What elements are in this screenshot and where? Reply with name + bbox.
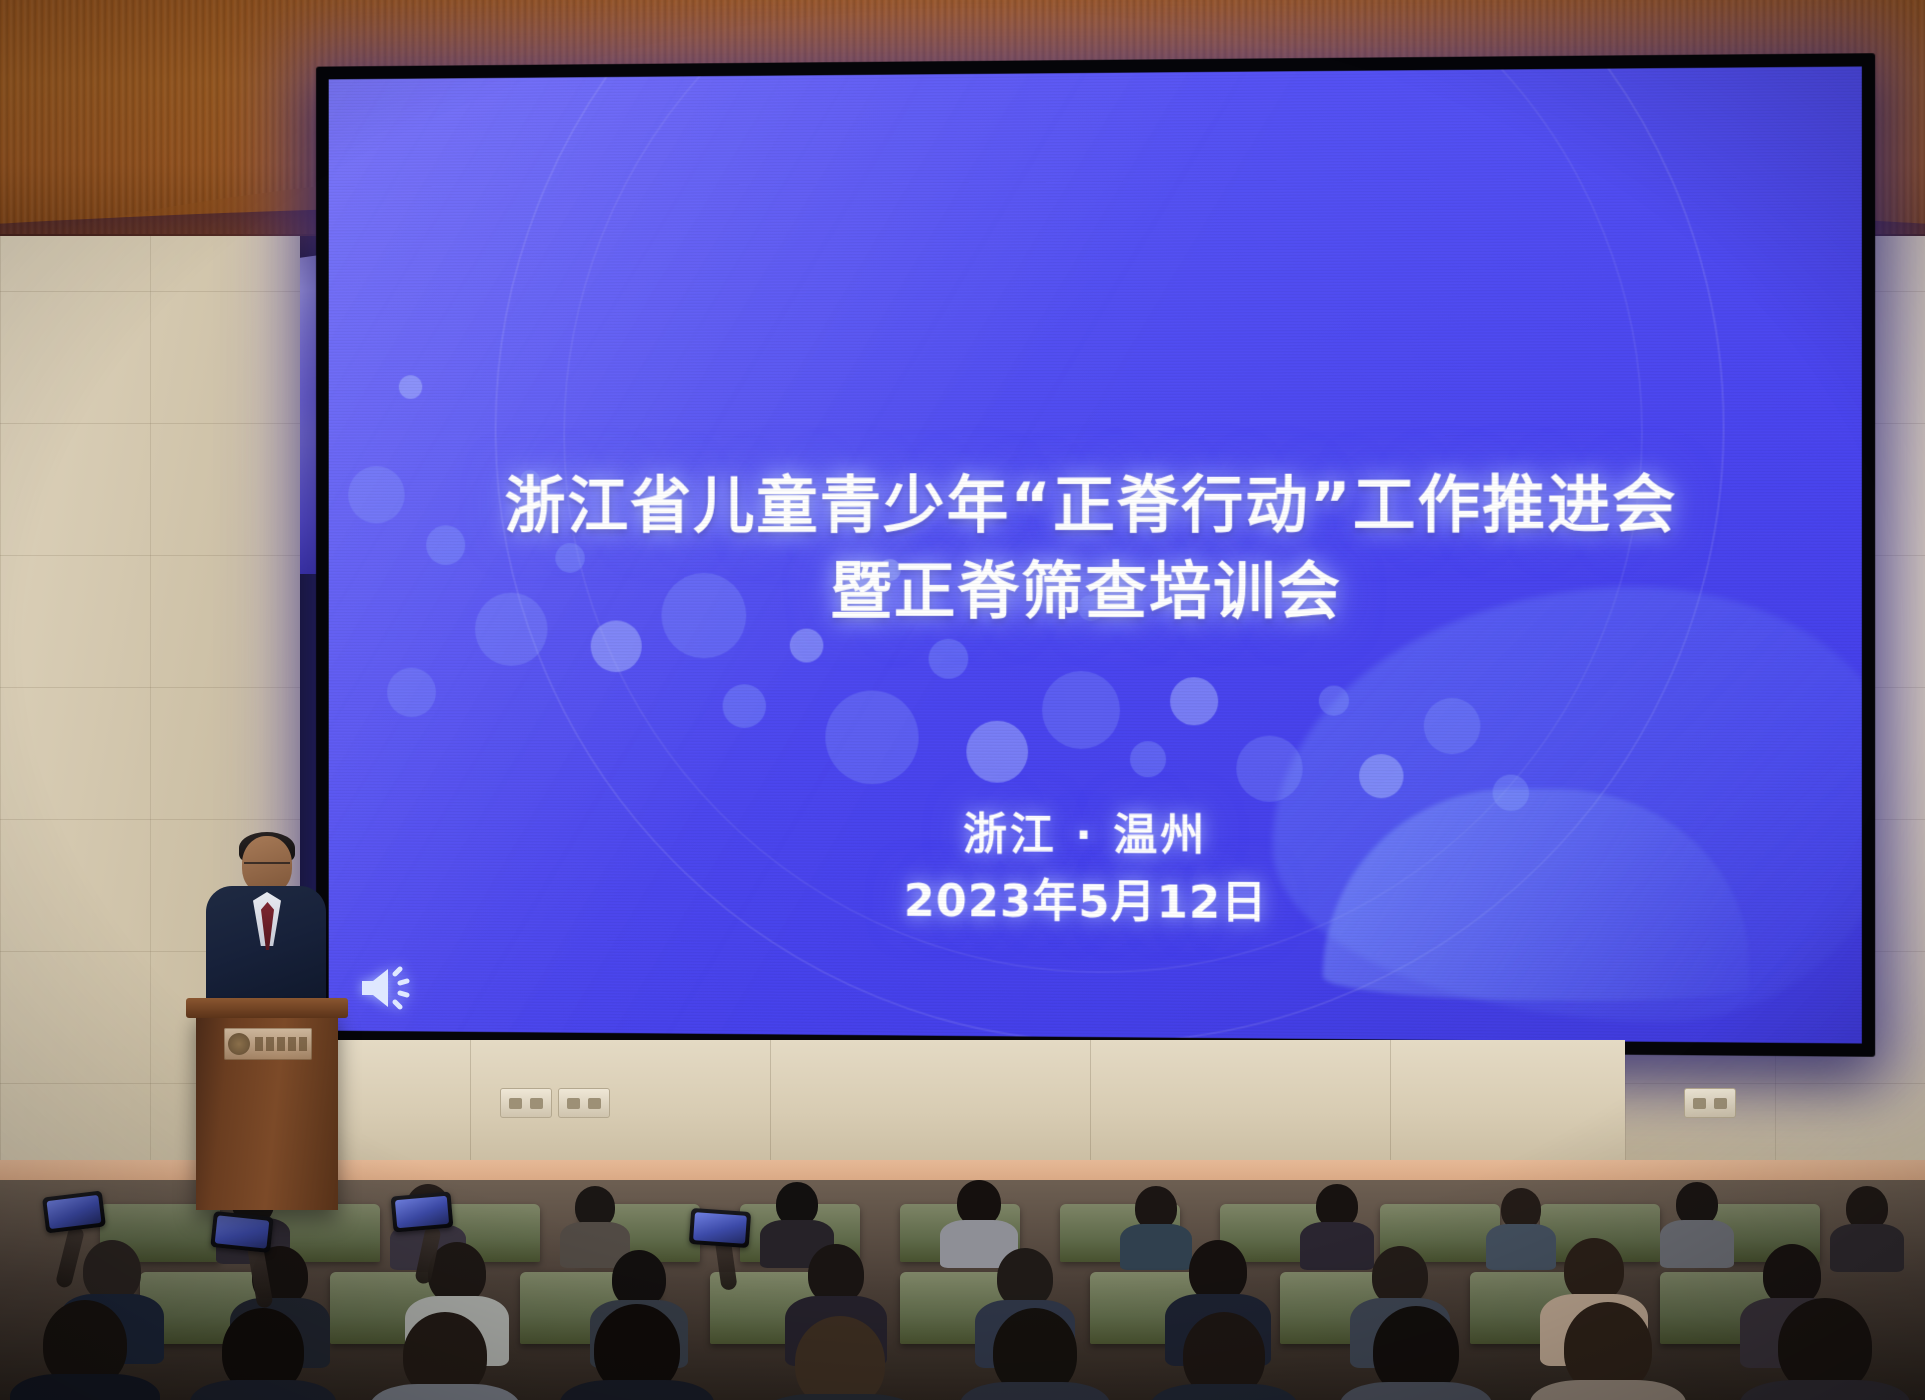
decorative-bubble (929, 639, 969, 679)
person-body (1340, 1382, 1492, 1400)
person-head (795, 1316, 885, 1400)
audience-person (1530, 1302, 1686, 1400)
podium-emblem-seal (228, 1033, 250, 1055)
person-head (1189, 1240, 1247, 1302)
stage-front-wall (300, 1040, 1625, 1170)
decorative-bubble (1359, 754, 1403, 798)
person-head (808, 1244, 864, 1304)
audience-phone (42, 1190, 106, 1233)
wall-power-socket (500, 1088, 552, 1118)
podium (196, 1010, 338, 1210)
phone-screen (395, 1196, 449, 1228)
person-body (10, 1374, 160, 1400)
decorative-bubble (399, 375, 422, 399)
audience-phone (689, 1208, 751, 1248)
audience-person (560, 1304, 714, 1400)
decorative-bubble (1130, 741, 1166, 777)
decorative-bubble (1170, 677, 1218, 725)
decorative-bubble (1424, 698, 1481, 755)
podium-emblem-text (255, 1037, 308, 1051)
wall-seam (1090, 1040, 1091, 1170)
decorative-bubble (387, 668, 436, 718)
led-screen-frame: 浙江省儿童青少年“正脊行动”工作推进会 暨正脊筛查培训会 浙江 · 温州 202… (316, 53, 1875, 1057)
audience-phone (210, 1211, 273, 1253)
slide-title-line-2: 暨正脊筛查培训会 (329, 549, 1862, 636)
slide-location: 浙江 · 温州 (329, 800, 1862, 874)
phone-screen (693, 1212, 747, 1244)
audience-person (760, 1316, 920, 1400)
podium-emblem (224, 1028, 312, 1060)
person-head (1763, 1244, 1821, 1306)
phone-screen (215, 1215, 270, 1248)
audience-person (1150, 1312, 1298, 1400)
volume-speaker-icon[interactable] (358, 962, 414, 1014)
phone-screen (46, 1195, 101, 1229)
presenter-glasses (244, 862, 290, 871)
wall-seam (470, 1040, 471, 1170)
person-body (560, 1380, 714, 1400)
audience-person (190, 1308, 336, 1400)
audience-area (0, 1180, 1925, 1400)
slide-title: 浙江省儿童青少年“正脊行动”工作推进会 暨正脊筛查培训会 (329, 462, 1862, 636)
person-body (1740, 1380, 1910, 1400)
audience-phone (391, 1191, 454, 1232)
person-head (1372, 1246, 1428, 1306)
decorative-bubble (723, 684, 766, 728)
conference-hall-scene: 浙江省儿童青少年“正脊行动”工作推进会 暨正脊筛查培训会 浙江 · 温州 202… (0, 0, 1925, 1400)
slide-date: 2023年5月12日 (329, 865, 1862, 940)
audience-person (1660, 1182, 1734, 1262)
podium-top (186, 998, 348, 1018)
audience-person (10, 1300, 160, 1400)
person-head (83, 1240, 141, 1302)
presenter-person (206, 836, 326, 1021)
person-body (760, 1394, 920, 1400)
audience-person (370, 1312, 520, 1400)
person-body (960, 1382, 1110, 1400)
decorative-bubble (1319, 686, 1349, 716)
audience-person (960, 1308, 1110, 1400)
slide-title-line-1: 浙江省儿童青少年“正脊行动”工作推进会 (329, 462, 1862, 549)
audience-person (1740, 1298, 1910, 1400)
person-body (190, 1380, 336, 1400)
decorative-bubble (966, 721, 1028, 783)
person-head (997, 1248, 1053, 1308)
person-head (1564, 1238, 1624, 1302)
wall-seam (1390, 1040, 1391, 1170)
decorative-bubble (825, 690, 918, 784)
wall-power-socket (1684, 1088, 1736, 1118)
slide-meta: 浙江 · 温州 2023年5月12日 (329, 800, 1862, 940)
person-body (1660, 1220, 1734, 1268)
wall-power-socket (558, 1088, 610, 1118)
decorative-bubble (1236, 735, 1302, 801)
decorative-bubble (1042, 671, 1120, 749)
wall-seam (770, 1040, 771, 1170)
person-body (1150, 1384, 1298, 1400)
audience-person (1340, 1306, 1492, 1400)
person-body (1530, 1380, 1686, 1400)
led-screen: 浙江省儿童青少年“正脊行动”工作推进会 暨正脊筛查培训会 浙江 · 温州 202… (329, 66, 1862, 1043)
person-body (370, 1384, 520, 1400)
